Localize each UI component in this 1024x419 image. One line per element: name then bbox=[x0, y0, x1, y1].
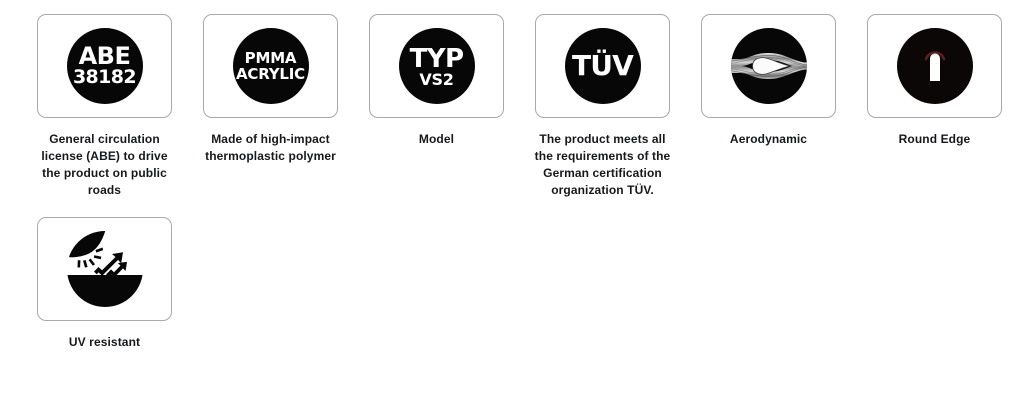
badge-label: Aerodynamic bbox=[696, 131, 841, 148]
badge-row-1: ABE 38182 General circulation license (A… bbox=[0, 14, 1024, 199]
badge-item-aerodynamic: Aerodynamic bbox=[701, 14, 836, 148]
pmma-icon-primary-text: PMMA bbox=[245, 50, 297, 66]
badge-item-uv-resistant: UV resistant bbox=[37, 217, 172, 351]
typ-vs2-model-icon: TYP VS2 bbox=[399, 28, 475, 104]
badge-item-pmma-acrylic: PMMA ACRYLIC Made of high-impact thermop… bbox=[203, 14, 338, 165]
badge-item-round-edge: Round Edge bbox=[867, 14, 1002, 148]
typ-icon-secondary-text: VS2 bbox=[419, 72, 453, 88]
abe-icon-primary-text: ABE bbox=[79, 46, 131, 67]
badge-card: TÜV bbox=[535, 14, 670, 118]
badge-item-tuv: TÜV The product meets all the requiremen… bbox=[535, 14, 670, 199]
typ-icon-primary-text: TYP bbox=[410, 47, 464, 72]
badge-label: Model bbox=[364, 131, 509, 148]
badge-label: UV resistant bbox=[32, 334, 177, 351]
badge-label: Made of high-impact thermoplastic polyme… bbox=[198, 131, 343, 165]
badge-label: General circulation license (ABE) to dri… bbox=[32, 131, 177, 199]
badge-label: The product meets all the requirements o… bbox=[530, 131, 675, 199]
badge-card bbox=[701, 14, 836, 118]
badge-card: ABE 38182 bbox=[37, 14, 172, 118]
badge-item-model: TYP VS2 Model bbox=[369, 14, 504, 148]
round-edge-icon bbox=[896, 27, 974, 105]
badge-card bbox=[867, 14, 1002, 118]
badge-card bbox=[37, 217, 172, 321]
badge-item-abe: ABE 38182 General circulation license (A… bbox=[37, 14, 172, 199]
tuv-certification-icon: TÜV bbox=[565, 28, 641, 104]
abe-icon-secondary-text: 38182 bbox=[73, 68, 136, 87]
feature-badge-grid: ABE 38182 General circulation license (A… bbox=[0, 0, 1024, 351]
abe-certification-icon: ABE 38182 bbox=[67, 28, 143, 104]
badge-card: TYP VS2 bbox=[369, 14, 504, 118]
pmma-icon-secondary-text: ACRYLIC bbox=[236, 66, 305, 82]
badge-row-2: UV resistant bbox=[0, 217, 1024, 351]
uv-resistant-sun-icon bbox=[66, 230, 144, 308]
tuv-icon-primary-text: TÜV bbox=[572, 52, 633, 80]
badge-card: PMMA ACRYLIC bbox=[203, 14, 338, 118]
pmma-acrylic-icon: PMMA ACRYLIC bbox=[233, 28, 309, 104]
badge-label: Round Edge bbox=[862, 131, 1007, 148]
aerodynamic-airfoil-icon bbox=[730, 27, 808, 105]
